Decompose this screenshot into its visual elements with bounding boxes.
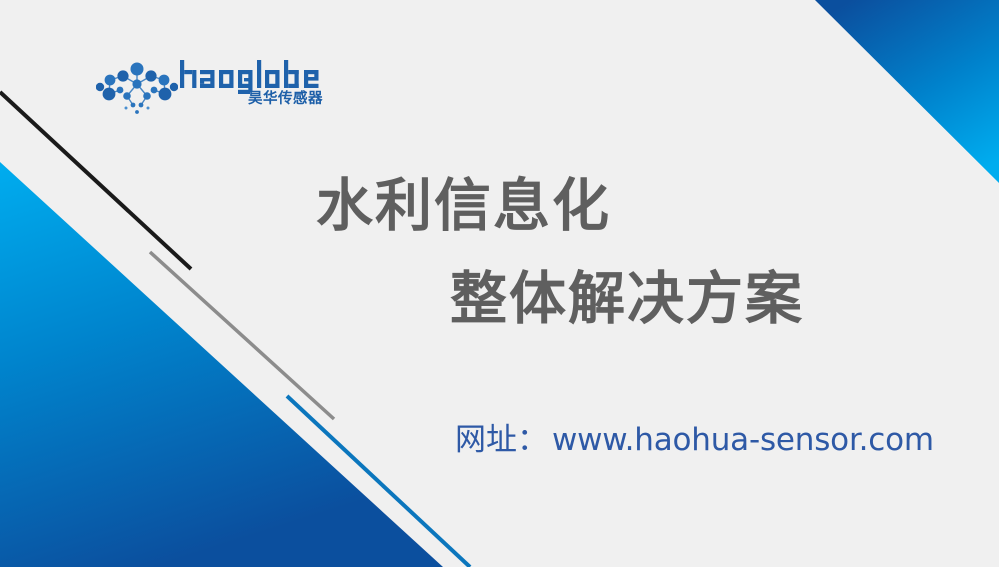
website-label: 网址： bbox=[455, 418, 548, 462]
page-title: 水利信息化 整体解决方案 bbox=[300, 160, 900, 346]
title-line-2: 整体解决方案 bbox=[300, 253, 900, 346]
website-url[interactable]: www.haohua-sensor.com bbox=[548, 418, 934, 462]
website-line: 网址：www.haohua-sensor.com bbox=[455, 418, 934, 462]
haoglobe-network-dots-icon bbox=[96, 60, 178, 116]
brand-logo[interactable]: 昊华传感器 bbox=[96, 58, 321, 120]
title-line-1: 水利信息化 bbox=[300, 160, 900, 253]
logo-chinese-name: 昊华传感器 bbox=[178, 92, 323, 107]
logo-text-group: 昊华传感器 bbox=[178, 58, 323, 120]
title-slide: 昊华传感器 水利信息化 整体解决方案 网址：www.haohua-sensor.… bbox=[0, 0, 999, 567]
haoglobe-wordmark bbox=[178, 58, 323, 94]
